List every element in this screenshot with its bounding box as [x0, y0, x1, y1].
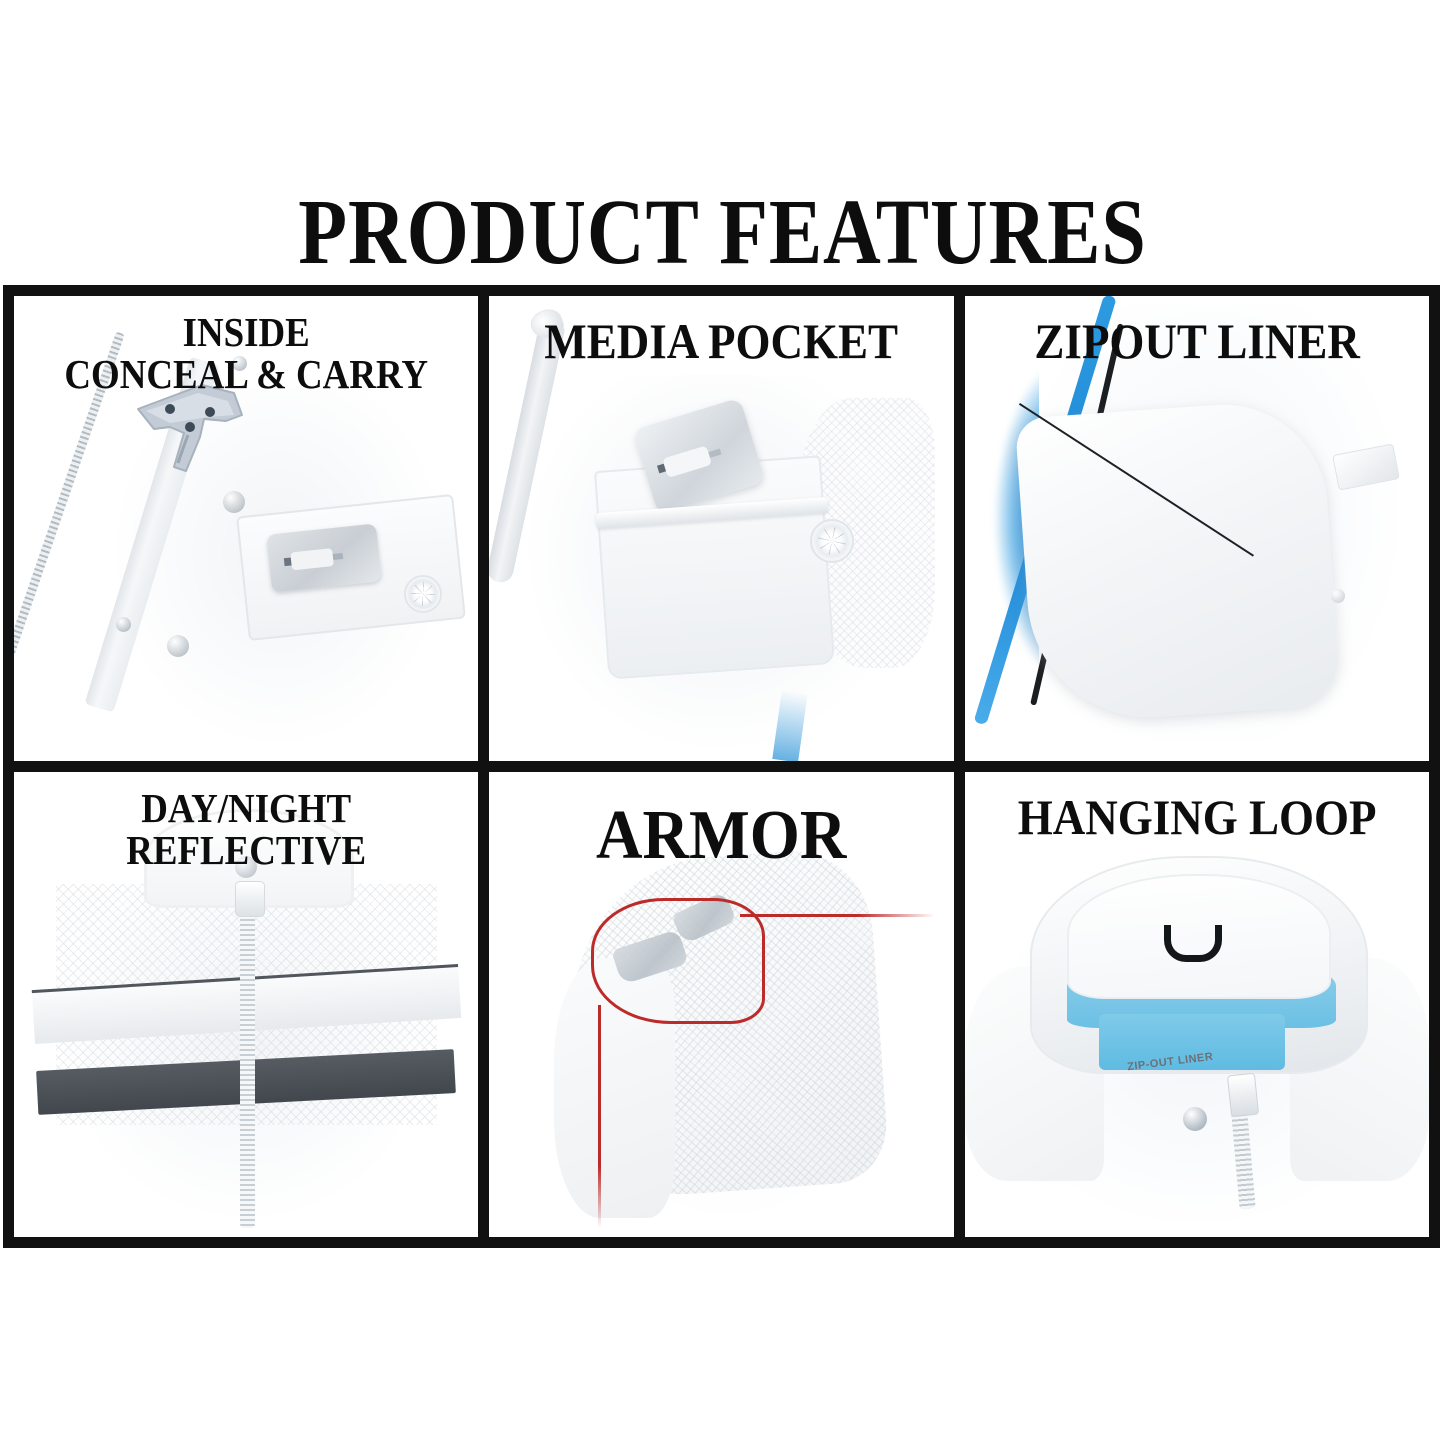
feature-panel-media-pocket[interactable]: MEDIA POCKET — [489, 296, 953, 761]
armor-callout-outline — [591, 898, 764, 1025]
hanging-loop-icon — [1164, 925, 1222, 962]
removable-liner — [1015, 397, 1342, 725]
zipper-pull-icon — [235, 881, 265, 917]
pistol-illustration — [130, 375, 278, 480]
reflective-photo — [14, 772, 478, 1237]
vent-grommet-icon — [404, 575, 442, 613]
armor-callout-line — [740, 914, 935, 917]
product-features-infographic: PRODUCT FEATURES — [0, 0, 1445, 1445]
feature-panel-armor[interactable]: ARMOR — [489, 772, 953, 1237]
feature-panel-inside-conceal-carry[interactable]: INSIDE CONCEAL & CARRY — [14, 296, 478, 761]
media-pocket-photo — [489, 296, 953, 761]
hanging-loop-photo: ZIP-OUT LINER — [965, 772, 1429, 1237]
feature-panel-zipout-liner[interactable]: ZIPOUT LINER — [965, 296, 1429, 761]
conceal-carry-photo — [14, 296, 478, 761]
feature-panel-day-night-reflective[interactable]: DAY/NIGHT REFLECTIVE — [14, 772, 478, 1237]
armor-photo — [489, 772, 953, 1237]
zipout-liner-photo — [965, 296, 1429, 761]
armor-callout-line — [598, 1005, 601, 1228]
vent-grommet-icon — [810, 519, 854, 563]
page-title: PRODUCT FEATURES — [101, 186, 1344, 279]
feature-panel-hanging-loop[interactable]: ZIP-OUT LINER HANGING LOOP — [965, 772, 1429, 1237]
features-grid: INSIDE CONCEAL & CARRY MEDIA POCKET — [3, 285, 1440, 1248]
phone-in-pocket — [267, 523, 382, 592]
zipper-pull-icon — [1227, 1073, 1259, 1118]
